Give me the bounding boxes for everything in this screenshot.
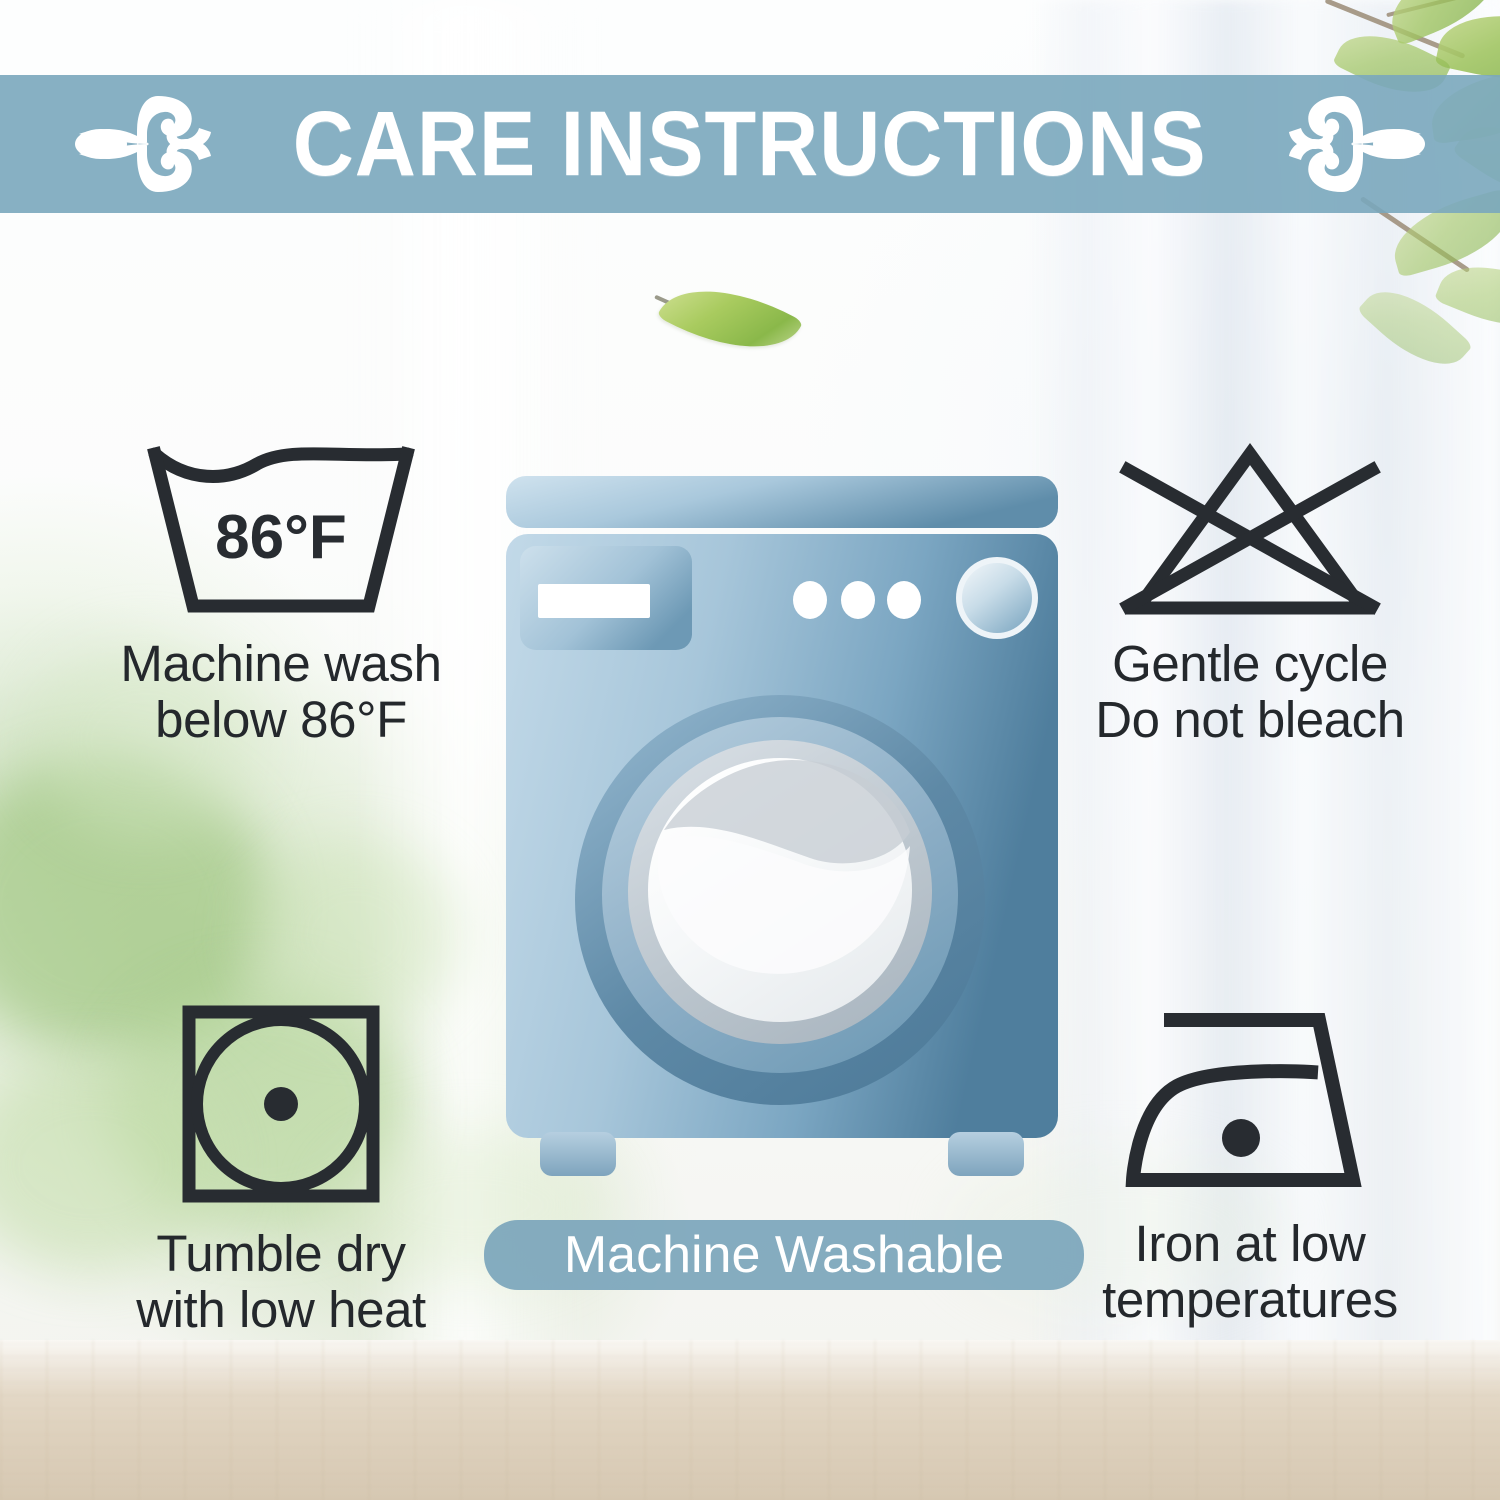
indicator-light-3 (887, 581, 921, 619)
fleur-de-lis-ornament-left (63, 86, 213, 202)
care-instructions-infographic: CARE INSTRUCTIONS (0, 0, 1500, 1500)
indicator-light-1 (793, 581, 827, 619)
header-banner: CARE INSTRUCTIONS (0, 75, 1500, 213)
care-symbol-do-not-bleach: Gentle cycle Do not bleach (1015, 440, 1485, 748)
wash-temperature-value: 86°F (215, 503, 347, 572)
washer-top-lid (506, 476, 1058, 528)
washer-foot-left (540, 1132, 616, 1176)
plant-branch-lower-right (1330, 210, 1500, 440)
wooden-table-grain (0, 1340, 1500, 1500)
care-label-do-not-bleach: Gentle cycle Do not bleach (1095, 636, 1405, 748)
detergent-drawer-slot (538, 584, 650, 618)
tumble-dry-low-icon (171, 1000, 391, 1210)
care-symbol-iron-low: Iron at low temperatures (1015, 1000, 1485, 1328)
wash-tub-icon: 86°F (131, 440, 431, 620)
indicator-light-2 (841, 581, 875, 619)
care-symbol-machine-wash: 86°F Machine wash below 86°F (46, 440, 516, 748)
no-bleach-triangle-icon (1100, 440, 1400, 620)
washer-foot-right (948, 1132, 1024, 1176)
fleur-de-lis-ornament-right (1287, 86, 1437, 202)
care-label-tumble-dry: Tumble dry with low heat (136, 1226, 426, 1338)
care-symbol-tumble-dry: Tumble dry with low heat (46, 1000, 516, 1338)
page-title: CARE INSTRUCTIONS (293, 98, 1207, 190)
iron-low-heat-icon (1115, 1000, 1385, 1200)
machine-washable-badge: Machine Washable (484, 1220, 1084, 1290)
machine-washable-badge-text: Machine Washable (564, 1229, 1004, 1281)
washing-machine-illustration (492, 470, 1072, 1200)
care-label-machine-wash: Machine wash below 86°F (120, 636, 441, 748)
care-label-iron-low: Iron at low temperatures (1102, 1216, 1398, 1328)
